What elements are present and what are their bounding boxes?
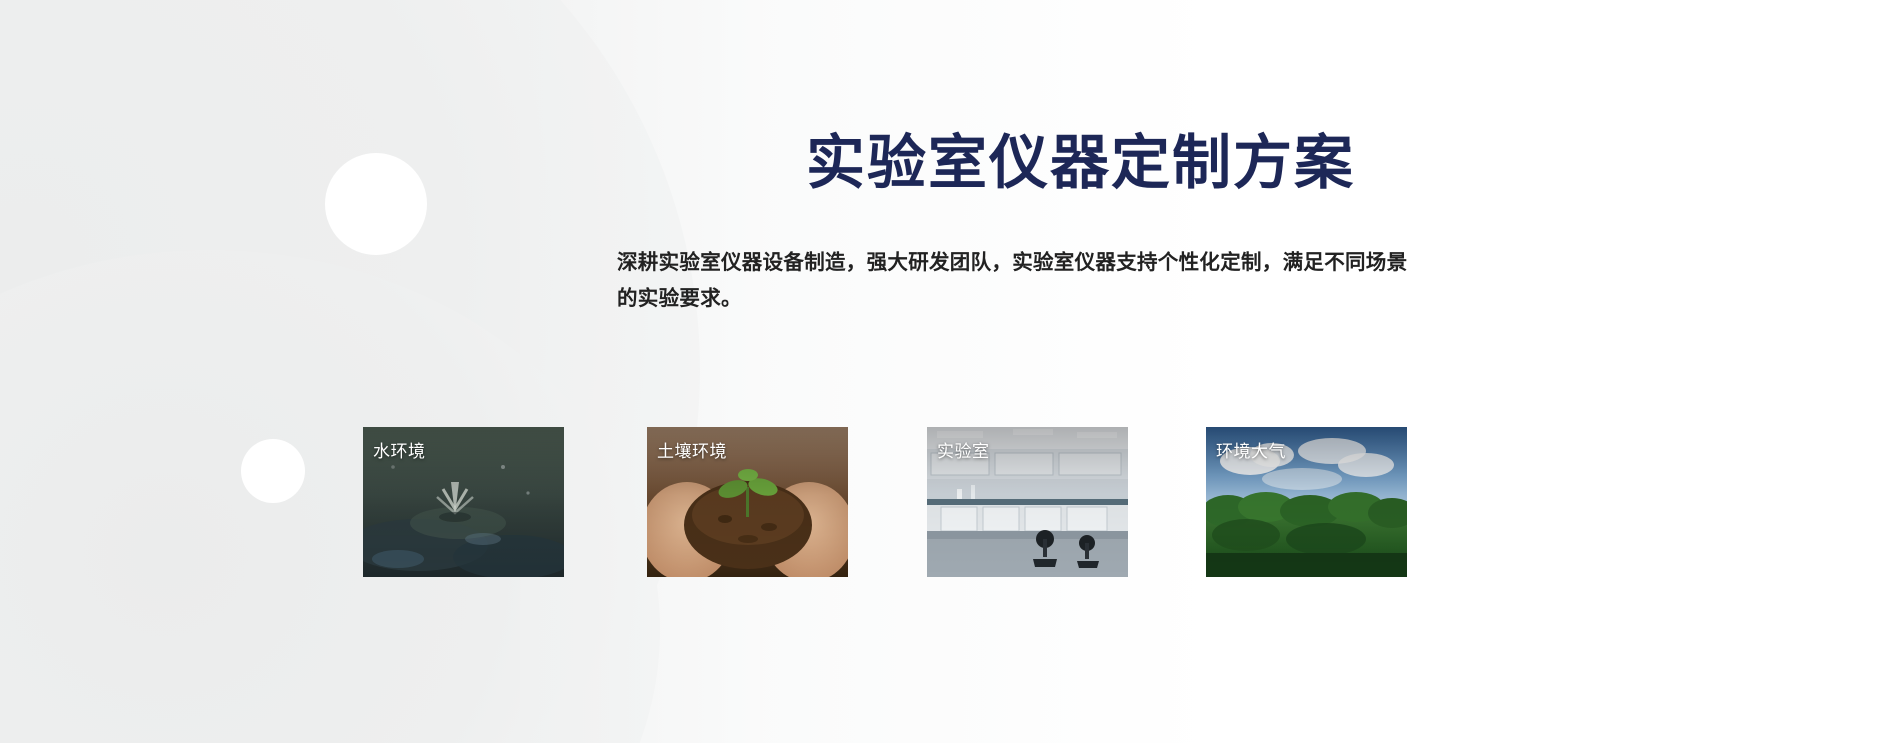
category-card-label: 水环境 <box>373 437 426 462</box>
decorative-circle-large <box>325 153 427 255</box>
category-card-list: 水环境 <box>363 427 1473 577</box>
category-card-label: 环境大气 <box>1216 437 1286 462</box>
category-card-label: 实验室 <box>937 437 990 462</box>
background-fade <box>520 0 1220 743</box>
category-card-atmosphere[interactable]: 环境大气 <box>1206 427 1407 577</box>
category-card-water[interactable]: 水环境 <box>363 427 564 577</box>
category-card-soil[interactable]: 土壤环境 <box>647 427 848 577</box>
category-card-label: 土壤环境 <box>657 437 727 462</box>
hero-banner: 实验室仪器定制方案 深耕实验室仪器设备制造，强大研发团队，实验室仪器支持个性化定… <box>0 0 1903 743</box>
page-title: 实验室仪器定制方案 <box>806 130 1355 198</box>
decorative-circle-small <box>241 439 305 503</box>
category-card-laboratory[interactable]: 实验室 <box>927 427 1128 577</box>
page-subtitle: 深耕实验室仪器设备制造，强大研发团队，实验室仪器支持个性化定制，满足不同场景的实… <box>617 245 1417 317</box>
